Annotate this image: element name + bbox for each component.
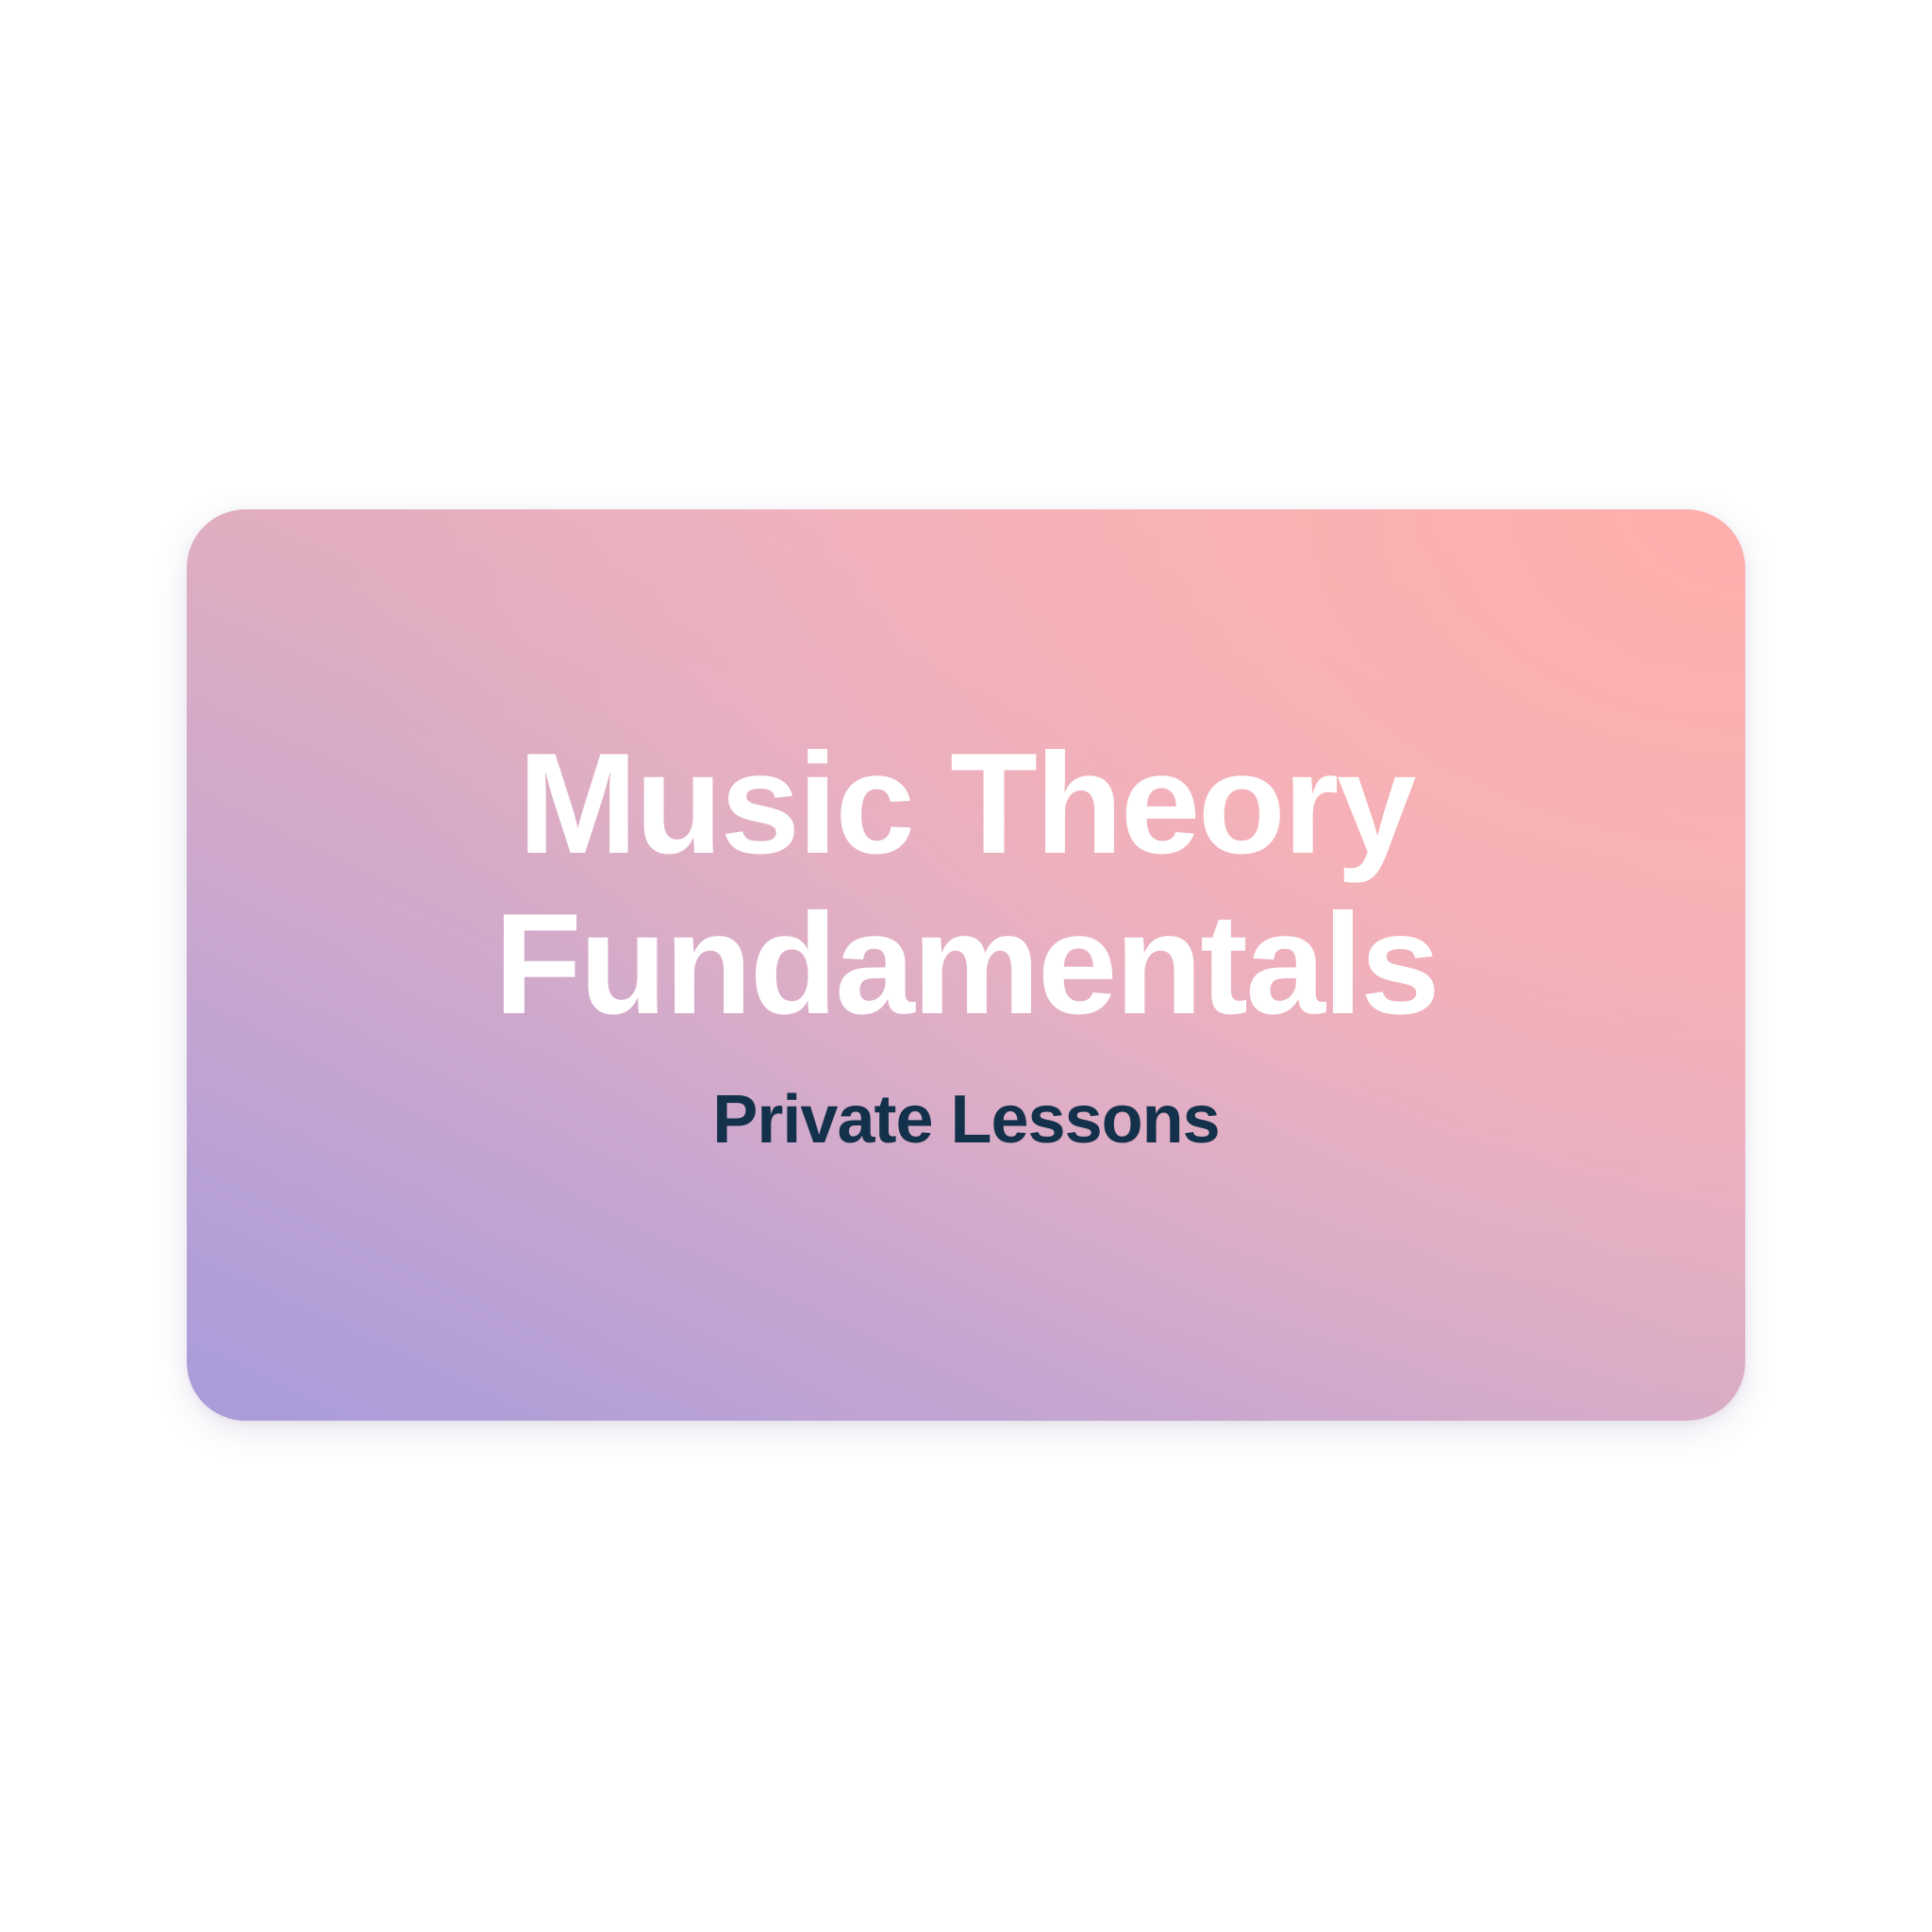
title-block: Music Theory Fundamentals [187, 767, 1745, 1088]
page-canvas: Music Theory Fundamentals Private Lesson… [0, 0, 1932, 1932]
promo-card-content: Music Theory Fundamentals Private Lesson… [187, 509, 1745, 1421]
promo-card[interactable]: Music Theory Fundamentals Private Lesson… [187, 509, 1745, 1421]
page-title: Music Theory Fundamentals [253, 724, 1679, 1044]
card-subtitle: Private Lessons [712, 1083, 1219, 1158]
